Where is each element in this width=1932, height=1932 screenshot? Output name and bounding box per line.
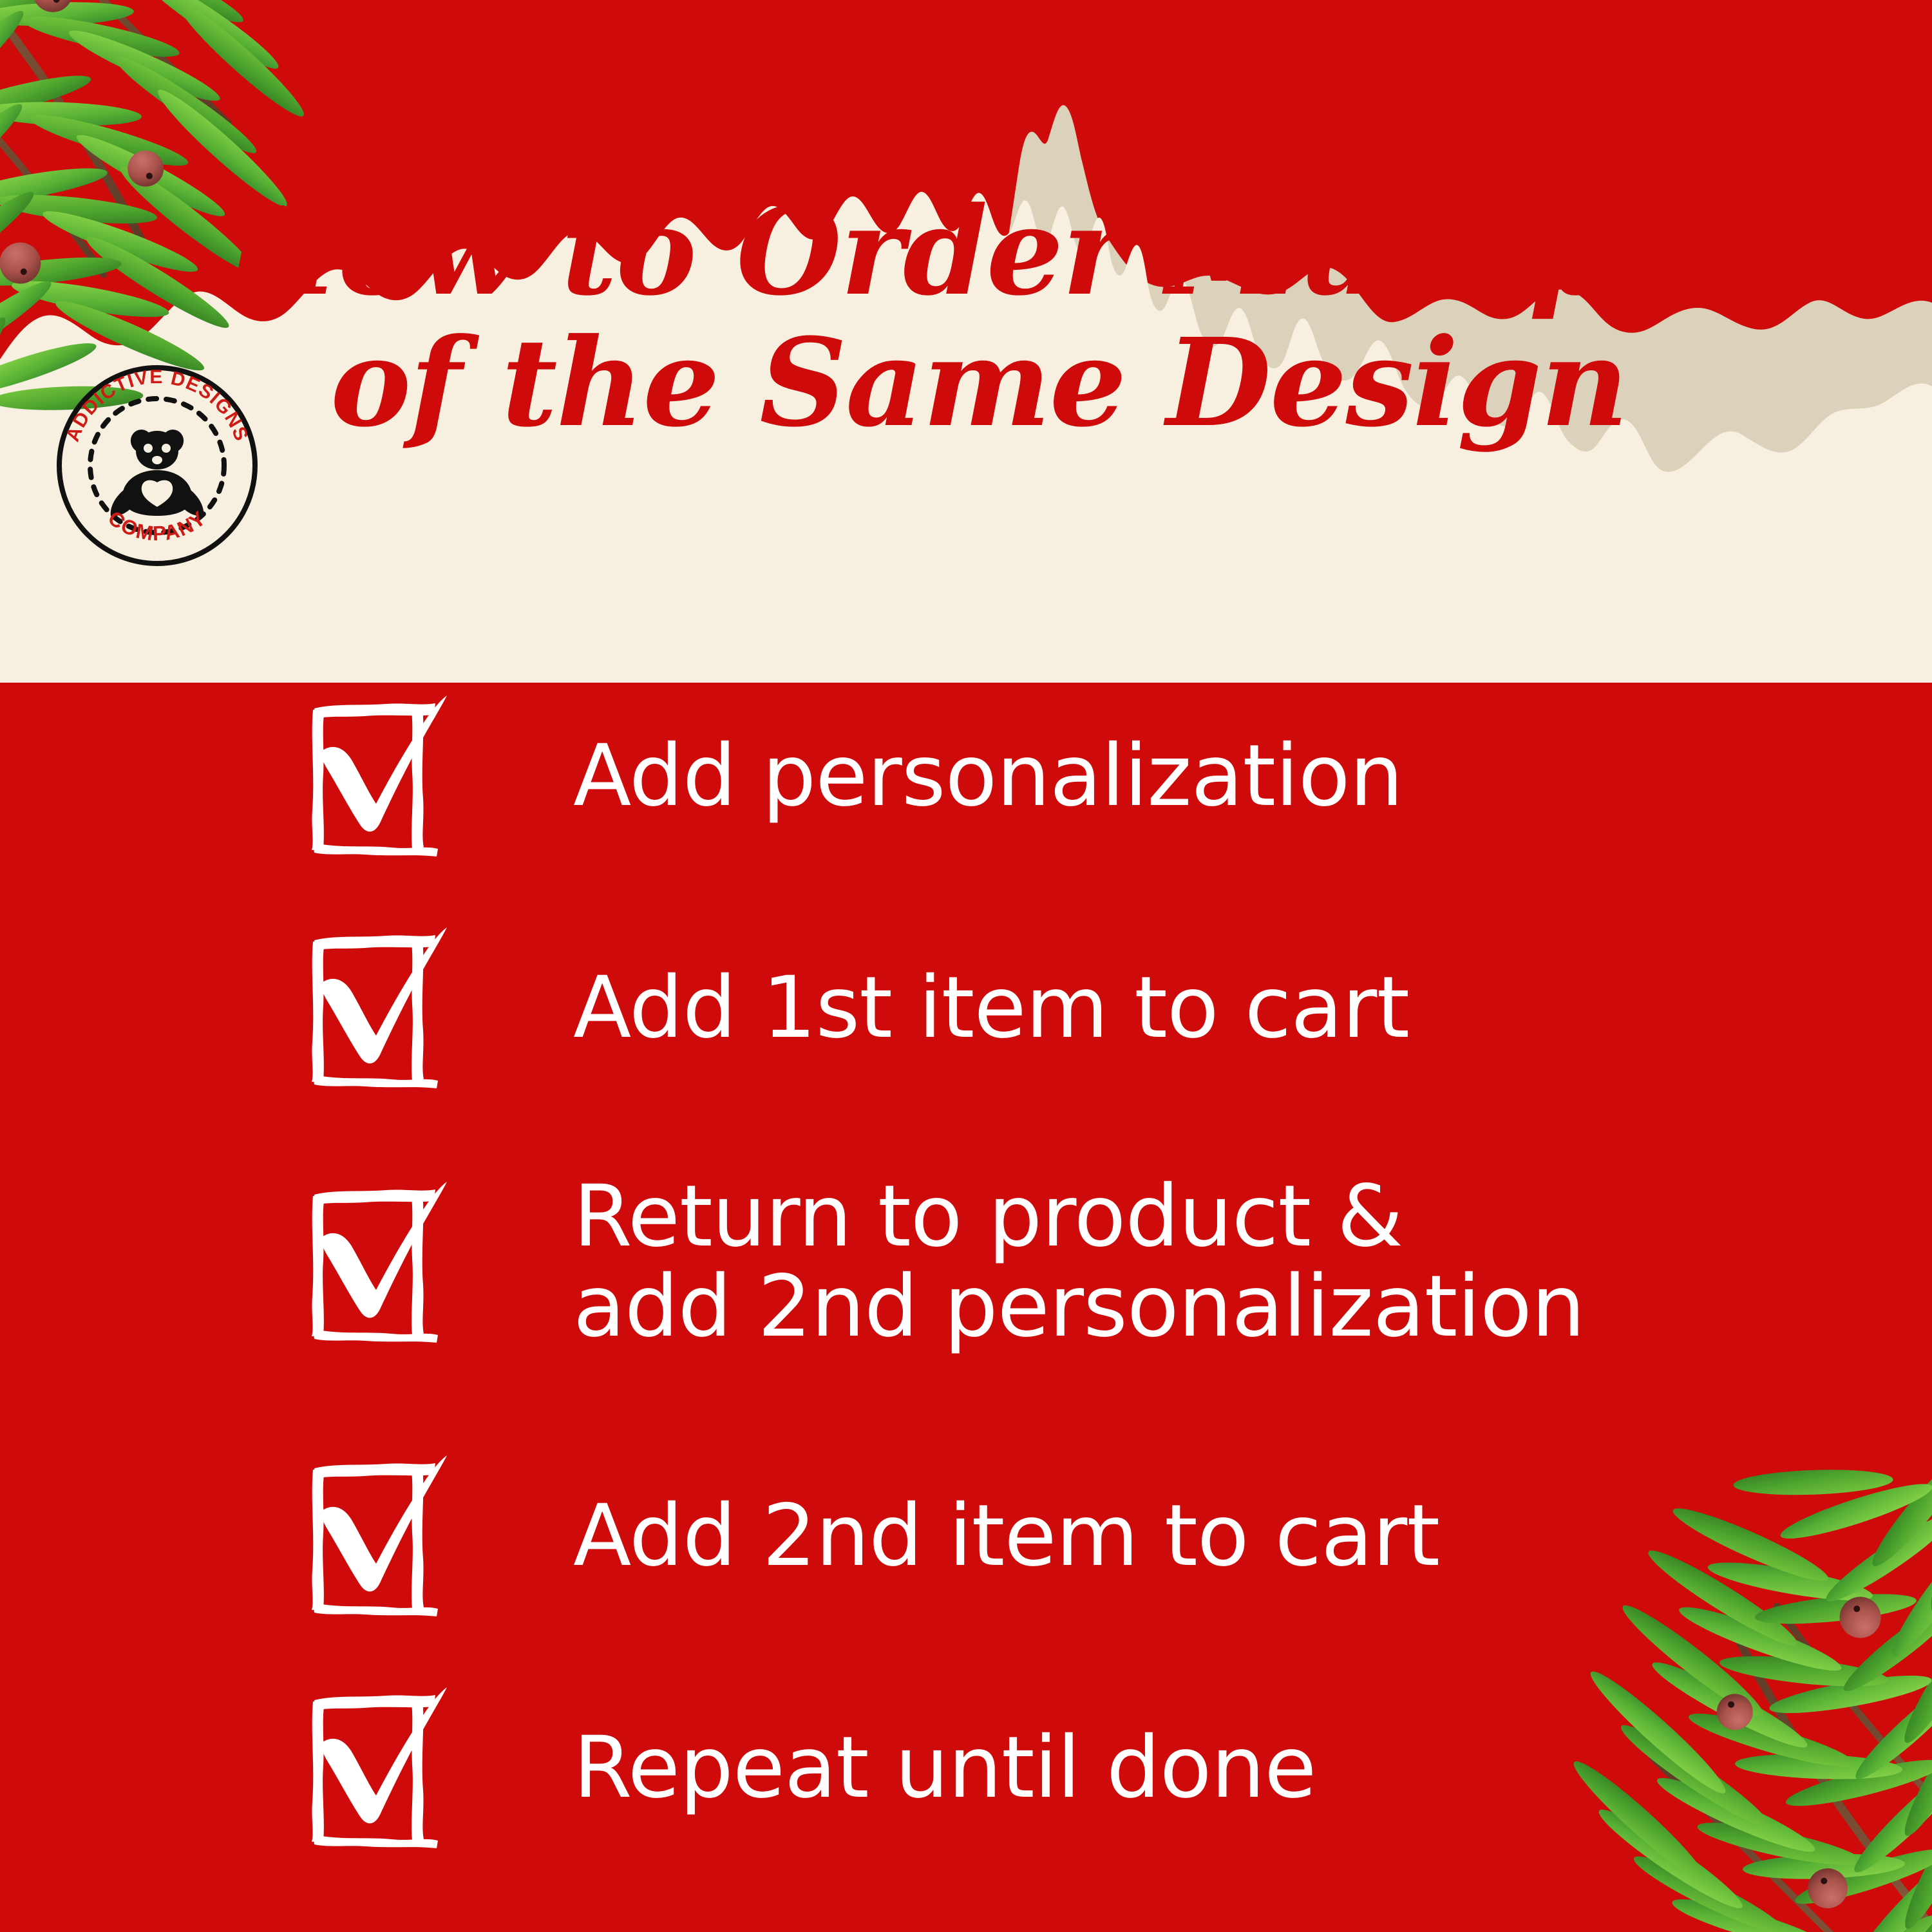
checkbox-checked-icon[interactable]	[309, 696, 444, 857]
checkbox-checked-icon[interactable]	[309, 927, 444, 1088]
poster-canvas: ADDICTIVE DESIGNS COMPANY How to Order M…	[0, 0, 1932, 1932]
checkbox-checked-icon[interactable]	[309, 1687, 444, 1848]
list-item[interactable]: Return to product & add 2nd personalizat…	[309, 1172, 1585, 1352]
headline-line-1: How to Order Multiple	[0, 193, 1932, 310]
checklist: Add personalization Add 1st item to cart	[0, 683, 1932, 1932]
page-title: How to Order Multiple of the Same Design	[0, 193, 1932, 442]
list-item-label: Add 2nd item to cart	[573, 1493, 1439, 1580]
list-item[interactable]: Add 1st item to cart	[309, 927, 1409, 1088]
checkbox-checked-icon[interactable]	[309, 1455, 444, 1616]
headline-line-2: of the Same Design	[0, 325, 1932, 442]
list-item-label: Repeat until done	[573, 1725, 1316, 1812]
checkbox-checked-icon[interactable]	[309, 1182, 444, 1343]
list-item[interactable]: Add 2nd item to cart	[309, 1455, 1439, 1616]
list-item-label: Add 1st item to cart	[573, 965, 1409, 1052]
list-item[interactable]: Add personalization	[309, 696, 1403, 857]
list-item-label: Return to product & add 2nd personalizat…	[573, 1172, 1585, 1352]
list-item[interactable]: Repeat until done	[309, 1687, 1316, 1848]
list-item-label: Add personalization	[573, 733, 1403, 820]
